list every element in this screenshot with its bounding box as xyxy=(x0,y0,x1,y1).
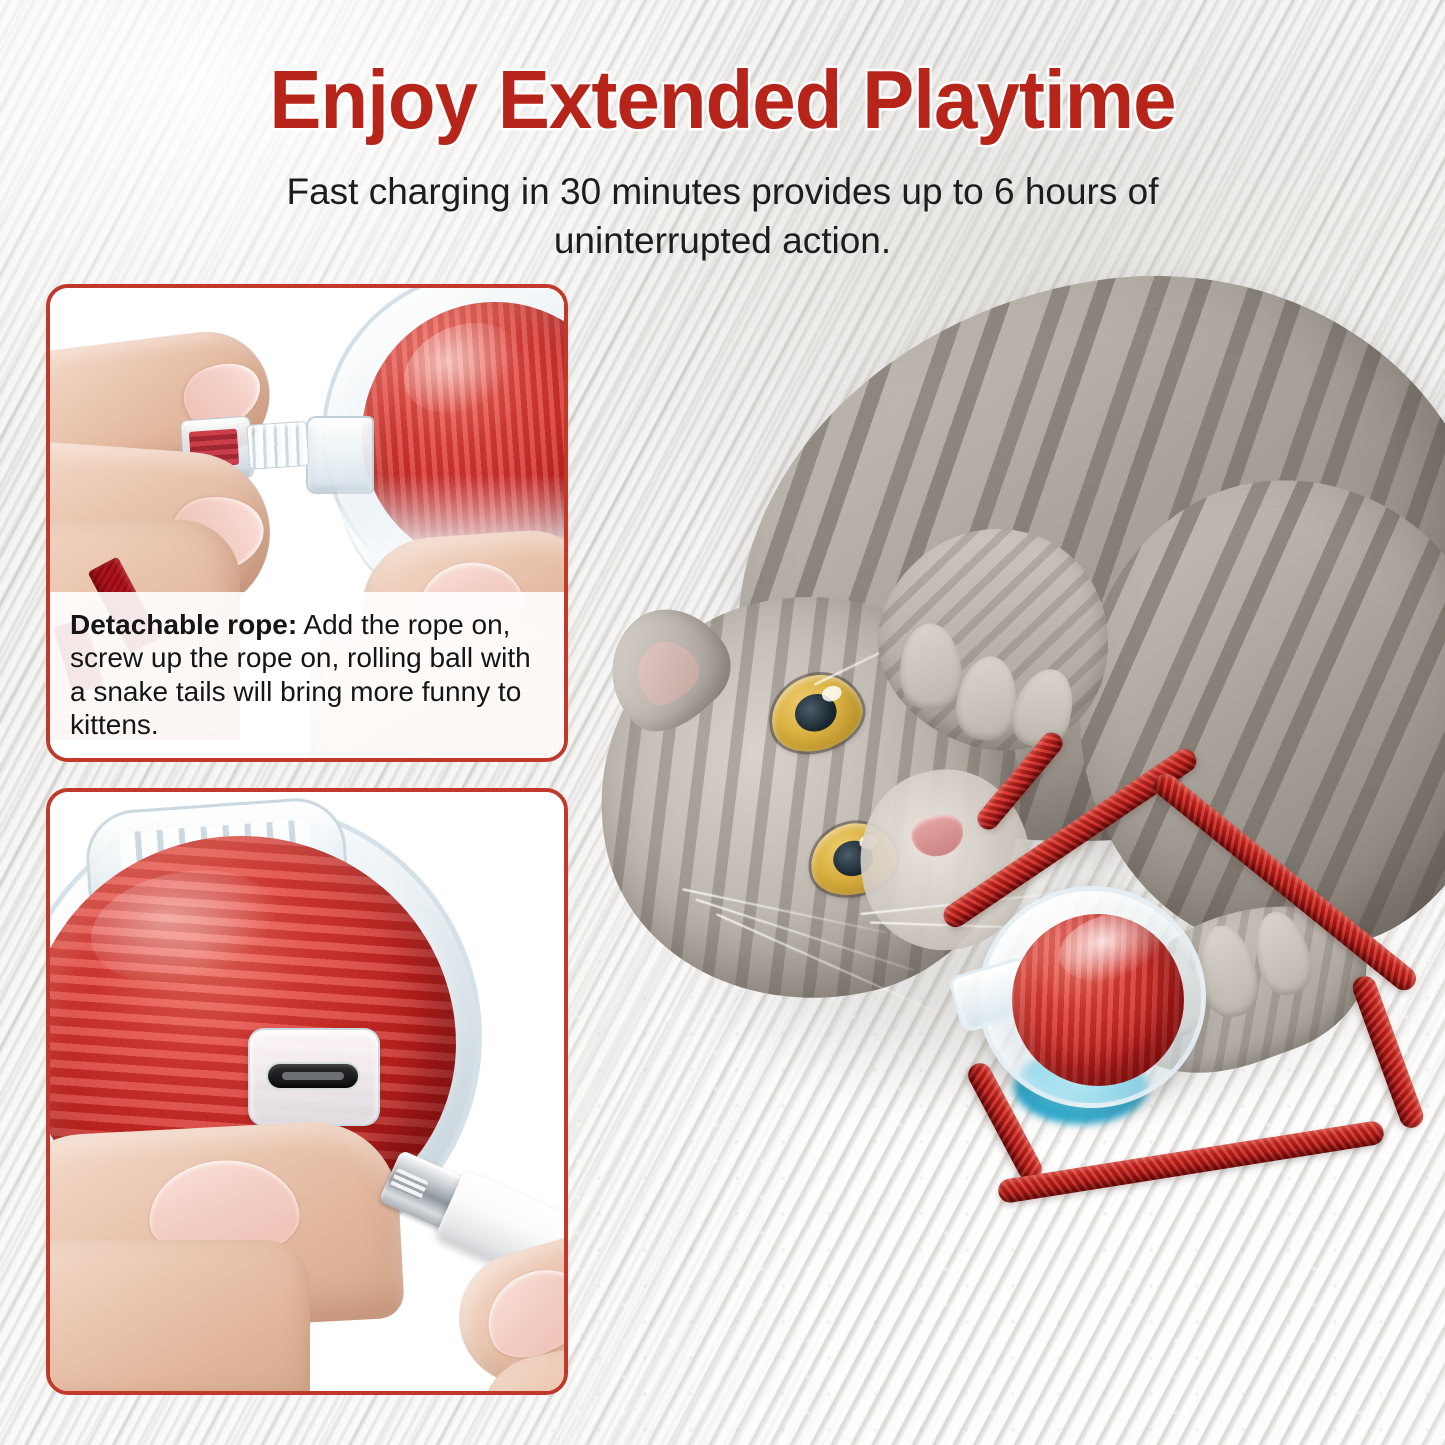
rope-segment xyxy=(997,1120,1386,1205)
cat-toe xyxy=(898,622,963,710)
hand-knuckles xyxy=(50,1240,310,1391)
feature-panel-detachable-rope: Detachable rope: Add the rope on, screw … xyxy=(46,284,568,762)
cap-screw-thread xyxy=(246,421,309,470)
usb-charging-photo xyxy=(50,792,564,1391)
detachable-rope-photo: Detachable rope: Add the rope on, screw … xyxy=(50,288,564,758)
caption-label: Detachable rope: xyxy=(70,609,297,640)
usb-c-port-tongue xyxy=(282,1072,344,1080)
panel-caption: Detachable rope: Add the rope on, screw … xyxy=(50,592,564,758)
feature-panel-usb-charging xyxy=(46,788,568,1395)
cat-hero-photo xyxy=(560,210,1445,1445)
smart-rolling-ball-toy xyxy=(1000,900,1200,1100)
product-feature-image: Enjoy Extended Playtime Fast charging in… xyxy=(0,0,1445,1445)
page-title: Enjoy Extended Playtime xyxy=(43,58,1401,143)
